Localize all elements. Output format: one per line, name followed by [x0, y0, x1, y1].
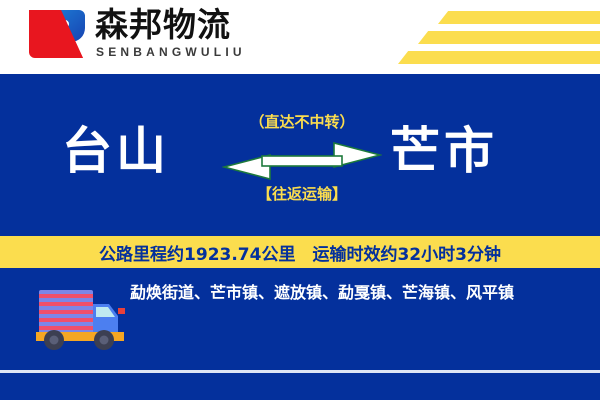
senbang-r-logo-icon [25, 8, 87, 60]
delivery-truck-icon [30, 282, 134, 354]
brand-name-cn: 森邦物流 [95, 8, 231, 42]
brand-name-en: SENBANGWULIU [96, 46, 246, 59]
destination-city: 芒市 [390, 122, 498, 180]
round-trip-note: 【往返运输】 [222, 184, 382, 204]
route-center-group: （直达不中转） 【往返运输】 [222, 112, 382, 220]
logistics-route-banner: 森邦物流 SENBANGWULIU 台山 芒市 （直达不中转） 【往返运输】 公… [0, 0, 600, 400]
header: 森邦物流 SENBANGWULIU [0, 0, 600, 74]
decorative-stripes [330, 0, 600, 74]
distance-duration-bar: 公路里程约1923.74公里 运输时效约32小时3分钟 [0, 236, 600, 268]
double-headed-arrow-icon [222, 142, 382, 180]
stripe-2 [418, 31, 600, 44]
covered-towns-text: 勐焕街道、芒市镇、遮放镇、勐戛镇、芒海镇、风平镇 [130, 282, 580, 304]
distance-duration-text: 公路里程约1923.74公里 运输时效约32小时3分钟 [99, 240, 501, 265]
footer [0, 373, 600, 400]
origin-city: 台山 [62, 122, 170, 180]
stripe-3 [398, 51, 600, 64]
direct-note: （直达不中转） [222, 112, 382, 132]
stripe-1 [438, 11, 600, 24]
